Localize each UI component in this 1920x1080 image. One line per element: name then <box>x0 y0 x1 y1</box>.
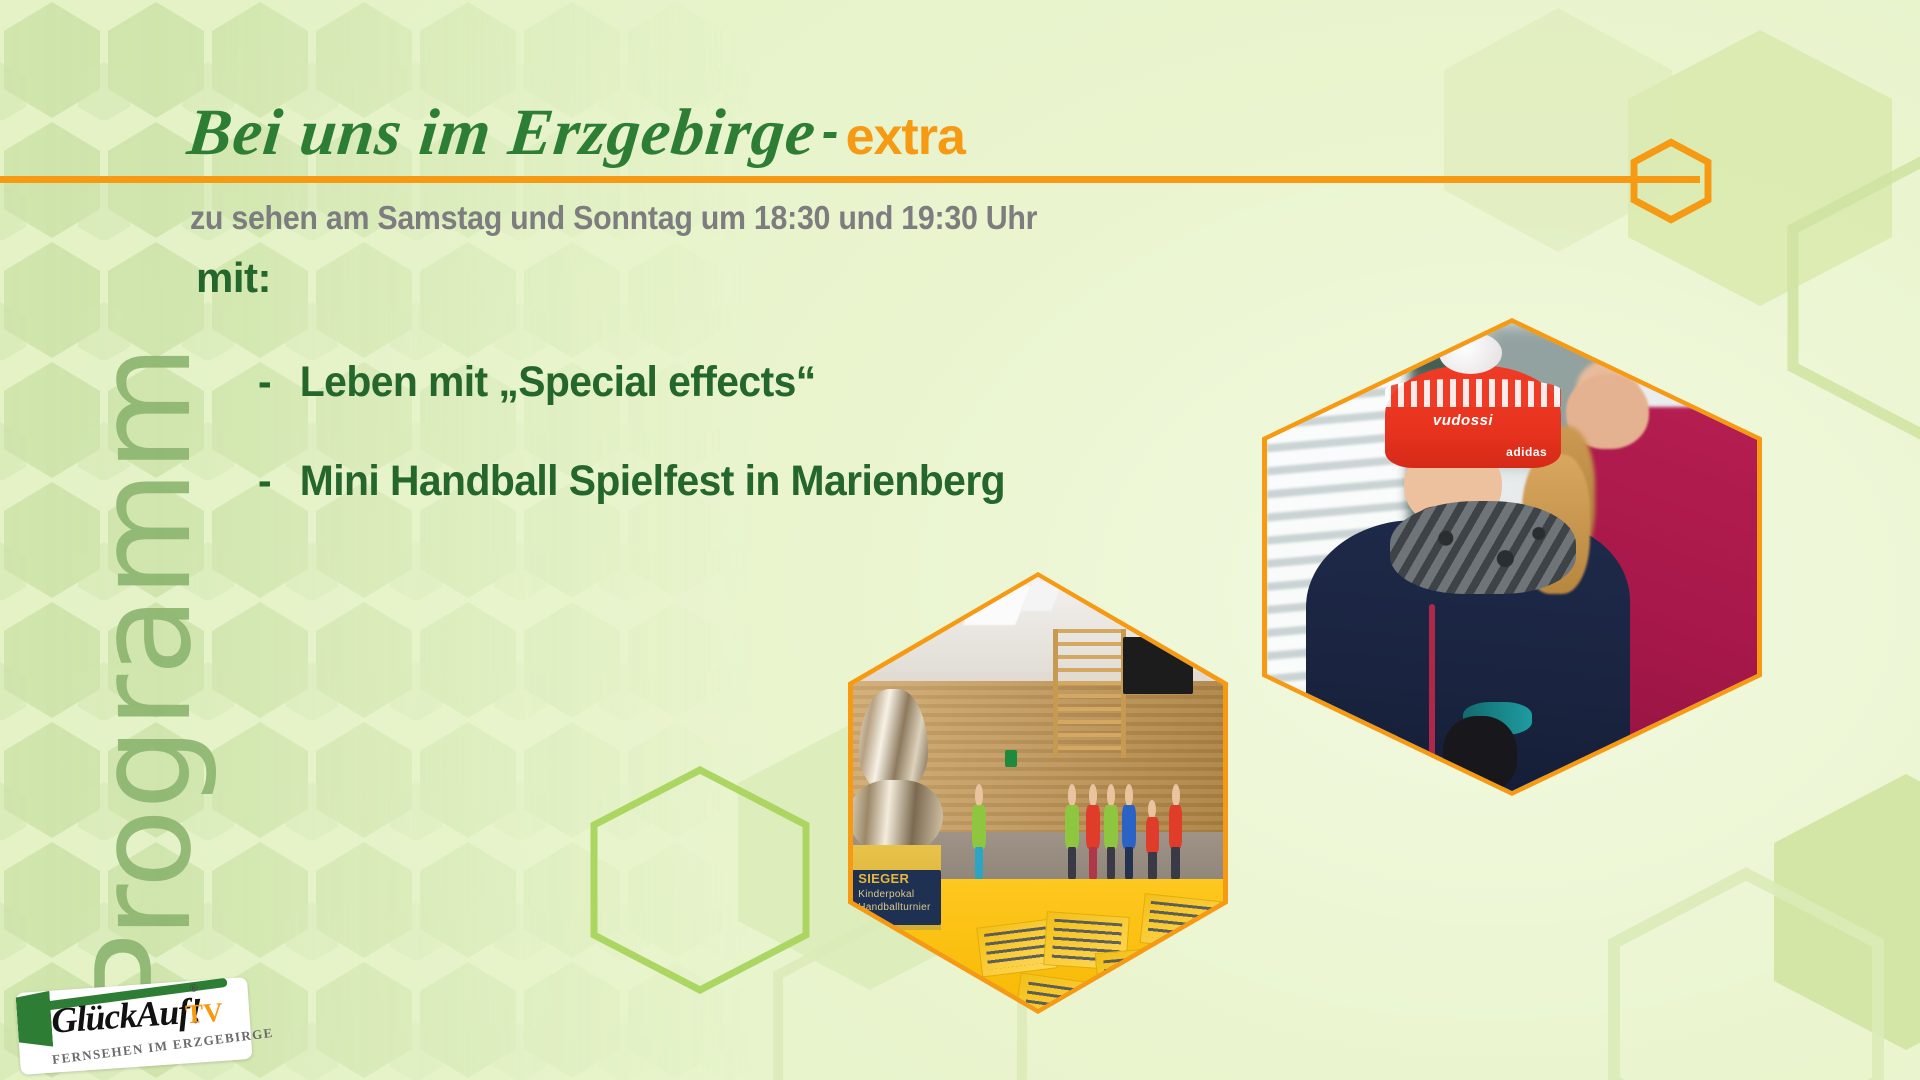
hexagon-outline <box>1596 862 1896 1080</box>
child-figure <box>1122 784 1135 879</box>
list-item-marker: - <box>258 358 300 407</box>
child-figure <box>1146 800 1159 880</box>
beanie-sponsor-text: adidas <box>1483 445 1571 459</box>
hexagon-outline <box>580 760 820 1000</box>
page-title-highlight: extra <box>845 107 964 167</box>
list-item: - Leben mit „Special effects“ <box>258 358 1005 407</box>
trophy-plate-title: SIEGER <box>853 870 941 887</box>
topic-list: - Leben mit „Special effects“ - Mini Han… <box>258 358 1044 556</box>
logo-green-wedge <box>15 991 53 1049</box>
winter-scene: vudossi adidas <box>1267 323 1757 791</box>
trophy: SIEGER Kinderpokal Handballturnier <box>853 689 957 940</box>
child-figure <box>1169 784 1182 879</box>
registered-mark-icon: ® <box>189 982 198 995</box>
gym-scene: SIEGER Kinderpokal Handballturnier <box>853 577 1223 1009</box>
hexagon-outline <box>1775 148 1920 448</box>
station-logo[interactable]: GlückAuf! ® TV FERNSEHEN IM ERZGEBIRGE <box>15 977 252 1075</box>
trophy-plate-line2: Kinderpokal <box>853 887 941 901</box>
child-figure <box>1065 784 1078 879</box>
page-title-dash: - <box>813 103 849 159</box>
beanie-brand-text: vudossi <box>1399 412 1526 429</box>
hexagon-shape <box>1756 762 1920 1062</box>
section-label-programm: Programm <box>68 313 220 1013</box>
photo-hex-clip: SIEGER Kinderpokal Handballturnier <box>853 577 1223 1009</box>
child-figure <box>1086 784 1099 879</box>
beanie-pattern <box>1385 379 1561 407</box>
certificate-sheet <box>1139 893 1220 950</box>
trophy-bowl <box>853 780 943 855</box>
list-item-label: Mini Handball Spielfest in Marienberg <box>300 457 1005 506</box>
child-glove <box>1292 716 1356 772</box>
content-intro-label: mit: <box>196 254 271 302</box>
exit-sign <box>1005 750 1017 767</box>
logo-tv-mark: TV <box>184 997 224 1031</box>
child-figure <box>1104 784 1117 879</box>
trophy-cup <box>859 689 928 794</box>
photo-hex-clip: vudossi adidas <box>1267 323 1757 791</box>
jacket-zipper <box>1429 604 1435 791</box>
list-item-label: Leben mit „Special effects“ <box>300 358 816 407</box>
list-item-marker: - <box>258 457 300 506</box>
photo-hex-handball: SIEGER Kinderpokal Handballturnier <box>848 572 1228 1014</box>
certificate-sheet <box>1095 945 1191 1009</box>
rule-end-hexagon-icon <box>1628 138 1714 224</box>
page-title-script: Bei uns im Erzgebirge <box>184 96 820 169</box>
trophy-plate: SIEGER Kinderpokal Handballturnier <box>853 870 941 925</box>
header-rule <box>0 176 1700 183</box>
page-title: Bei uns im Erzgebirge-extra <box>184 95 969 171</box>
list-item: - Mini Handball Spielfest in Marienberg <box>258 457 1005 506</box>
broadcast-times: zu sehen am Samstag und Sonntag um 18:30… <box>190 199 1037 237</box>
photo-hex-winter: vudossi adidas <box>1262 318 1762 796</box>
children-group <box>957 784 1216 879</box>
slide-canvas: Programm Bei uns im Erzgebirge-extra zu … <box>0 0 1920 1080</box>
wall-bars <box>1053 629 1126 759</box>
child-figure <box>972 784 985 879</box>
star-scarf <box>1390 501 1576 595</box>
